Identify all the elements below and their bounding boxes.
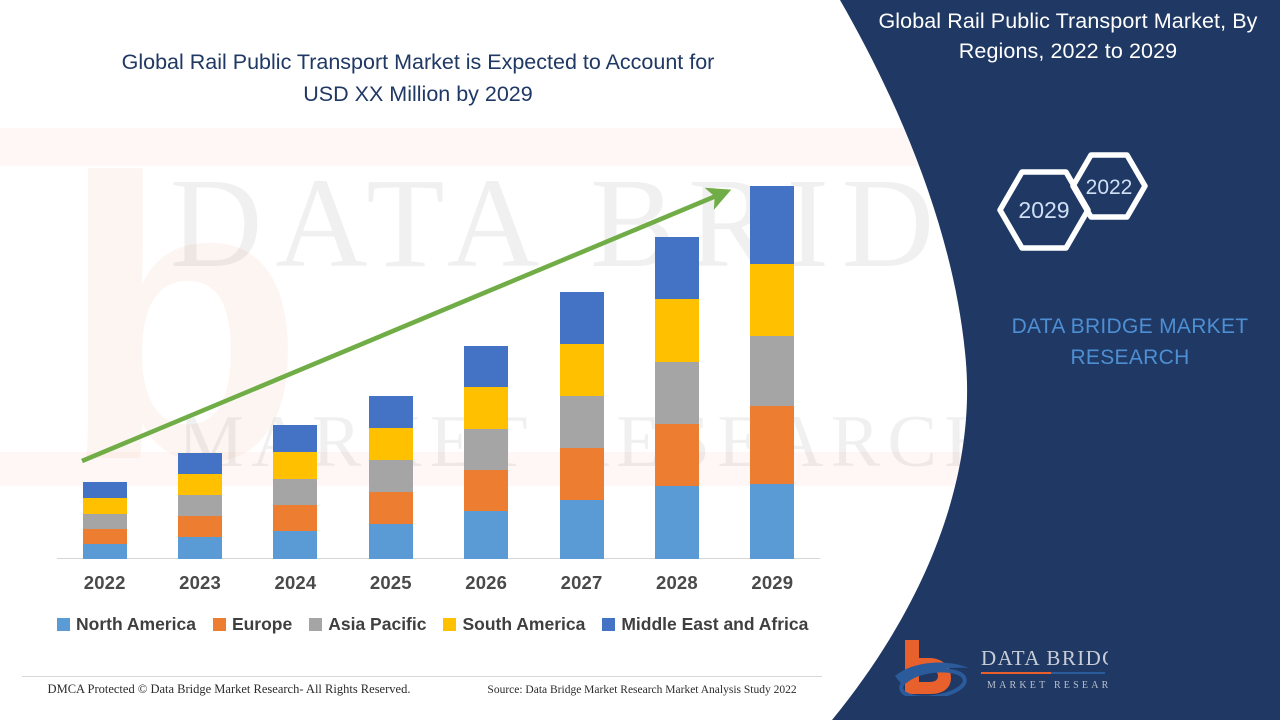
x-axis-label-2026: 2026 bbox=[438, 572, 534, 594]
hexagon-start-year: 2022 bbox=[1086, 176, 1133, 199]
legend-swatch-icon bbox=[309, 618, 322, 631]
source-note: Source: Data Bridge Market Research Mark… bbox=[452, 684, 832, 696]
legend-item[interactable]: Asia Pacific bbox=[309, 614, 426, 635]
chart-region: Global Rail Public Transport Market is E… bbox=[0, 0, 860, 720]
bar-2028[interactable] bbox=[655, 237, 699, 559]
bar-segment bbox=[83, 514, 127, 529]
x-axis-label-2022: 2022 bbox=[57, 572, 153, 594]
bar-segment bbox=[464, 387, 508, 429]
bar-2022[interactable] bbox=[83, 482, 127, 559]
bar-segment bbox=[750, 484, 794, 559]
legend-label: Asia Pacific bbox=[328, 614, 426, 635]
legend-label: North America bbox=[76, 614, 196, 635]
bar-segment bbox=[273, 425, 317, 452]
chart-legend: North AmericaEuropeAsia PacificSouth Ame… bbox=[57, 614, 827, 635]
bar-segment bbox=[178, 537, 222, 559]
legend-swatch-icon bbox=[213, 618, 226, 631]
bar-segment bbox=[655, 486, 699, 559]
legend-item[interactable]: Europe bbox=[213, 614, 292, 635]
bar-segment bbox=[750, 406, 794, 484]
x-axis-labels: 20222023202420252026202720282029 bbox=[57, 572, 820, 600]
bar-segment bbox=[369, 492, 413, 524]
bar-segment bbox=[560, 292, 604, 344]
bar-2029[interactable] bbox=[750, 186, 794, 559]
x-axis-label-2027: 2027 bbox=[534, 572, 630, 594]
bar-segment bbox=[750, 264, 794, 336]
bar-segment bbox=[83, 482, 127, 498]
bar-segment bbox=[750, 186, 794, 264]
bar-segment bbox=[369, 428, 413, 460]
bar-2027[interactable] bbox=[560, 292, 604, 559]
bar-2024[interactable] bbox=[273, 425, 317, 559]
bar-segment bbox=[464, 429, 508, 470]
bar-segment bbox=[655, 362, 699, 424]
chart-title: Global Rail Public Transport Market is E… bbox=[118, 46, 718, 110]
hexagon-year-badges: 2029 2022 bbox=[985, 140, 1185, 280]
logo-primary-text: DATA BRIDGE bbox=[981, 646, 1108, 670]
legend-label: South America bbox=[462, 614, 585, 635]
bar-segment bbox=[560, 396, 604, 448]
brand-name: DATA BRIDGE MARKET RESEARCH bbox=[985, 311, 1275, 373]
legend-swatch-icon bbox=[443, 618, 456, 631]
legend-item[interactable]: Middle East and Africa bbox=[602, 614, 808, 635]
x-axis-label-2023: 2023 bbox=[152, 572, 248, 594]
bar-segment bbox=[178, 495, 222, 516]
x-axis-label-2028: 2028 bbox=[629, 572, 725, 594]
bar-segment bbox=[83, 529, 127, 544]
bar-segment bbox=[83, 498, 127, 514]
legend-swatch-icon bbox=[57, 618, 70, 631]
bar-segment bbox=[655, 424, 699, 486]
bar-segment bbox=[369, 460, 413, 492]
bar-segment bbox=[369, 524, 413, 559]
data-bridge-logo: DATA BRIDGE MARKET RESEARCH bbox=[893, 636, 1108, 696]
bar-2023[interactable] bbox=[178, 453, 222, 559]
bar-2025[interactable] bbox=[369, 396, 413, 559]
bar-segment bbox=[178, 516, 222, 537]
bar-segment bbox=[655, 299, 699, 362]
bar-segment bbox=[369, 396, 413, 428]
bar-segment bbox=[273, 531, 317, 559]
bar-segment bbox=[464, 346, 508, 387]
bar-segment bbox=[560, 500, 604, 559]
bar-segment bbox=[273, 479, 317, 505]
footer-divider bbox=[22, 676, 822, 677]
infographic-canvas: b DATA BRIDGE MARKET RESEARCH Global Rai… bbox=[0, 0, 1280, 720]
legend-label: Europe bbox=[232, 614, 292, 635]
bar-segment bbox=[273, 452, 317, 479]
bar-2026[interactable] bbox=[464, 346, 508, 559]
legend-label: Middle East and Africa bbox=[621, 614, 808, 635]
stacked-bar-plot bbox=[57, 150, 820, 559]
x-axis-label-2025: 2025 bbox=[343, 572, 439, 594]
legend-item[interactable]: South America bbox=[443, 614, 585, 635]
bar-segment bbox=[560, 448, 604, 500]
bar-segment bbox=[83, 544, 127, 559]
bar-segment bbox=[560, 344, 604, 396]
bar-segment bbox=[750, 336, 794, 406]
x-axis-label-2024: 2024 bbox=[247, 572, 343, 594]
bar-segment bbox=[464, 511, 508, 559]
panel-heading: Global Rail Public Transport Market, By … bbox=[862, 6, 1274, 66]
hexagon-end-year: 2029 bbox=[1018, 197, 1069, 223]
x-axis-label-2029: 2029 bbox=[724, 572, 820, 594]
legend-item[interactable]: North America bbox=[57, 614, 196, 635]
bar-segment bbox=[464, 470, 508, 511]
bar-segment bbox=[655, 237, 699, 299]
bar-segment bbox=[273, 505, 317, 531]
dmca-notice: DMCA Protected © Data Bridge Market Rese… bbox=[24, 682, 434, 697]
bar-segment bbox=[178, 453, 222, 474]
bar-segment bbox=[178, 474, 222, 495]
logo-secondary-text: MARKET RESEARCH bbox=[987, 680, 1108, 691]
legend-swatch-icon bbox=[602, 618, 615, 631]
